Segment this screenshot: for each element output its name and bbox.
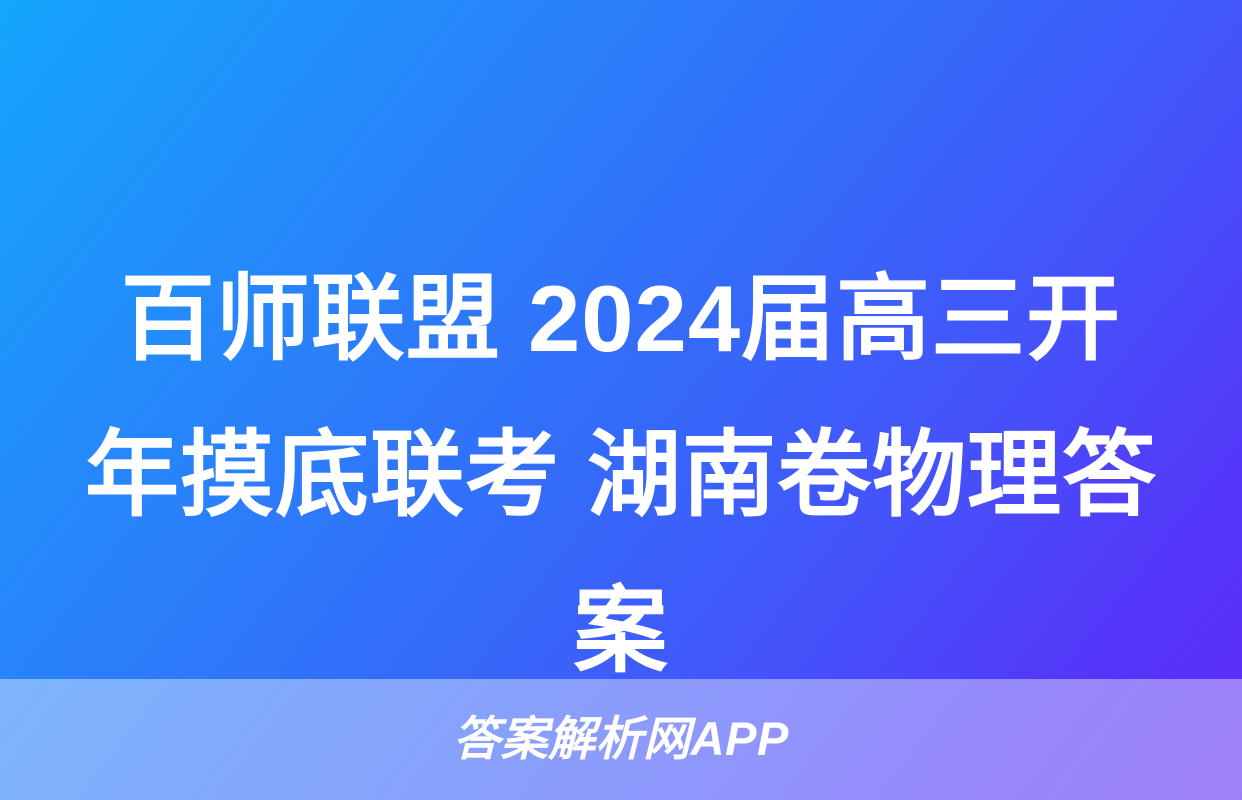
page-title: 百师联盟 2024届高三开年摸底联考 湖南卷物理答案 <box>0 241 1242 709</box>
watermark-band: 答案解析网APP <box>0 679 1242 800</box>
poster-canvas: 百师联盟 2024届高三开年摸底联考 湖南卷物理答案 答案解析网APP <box>0 0 1242 800</box>
watermark-label: 答案解析网APP <box>453 715 789 762</box>
